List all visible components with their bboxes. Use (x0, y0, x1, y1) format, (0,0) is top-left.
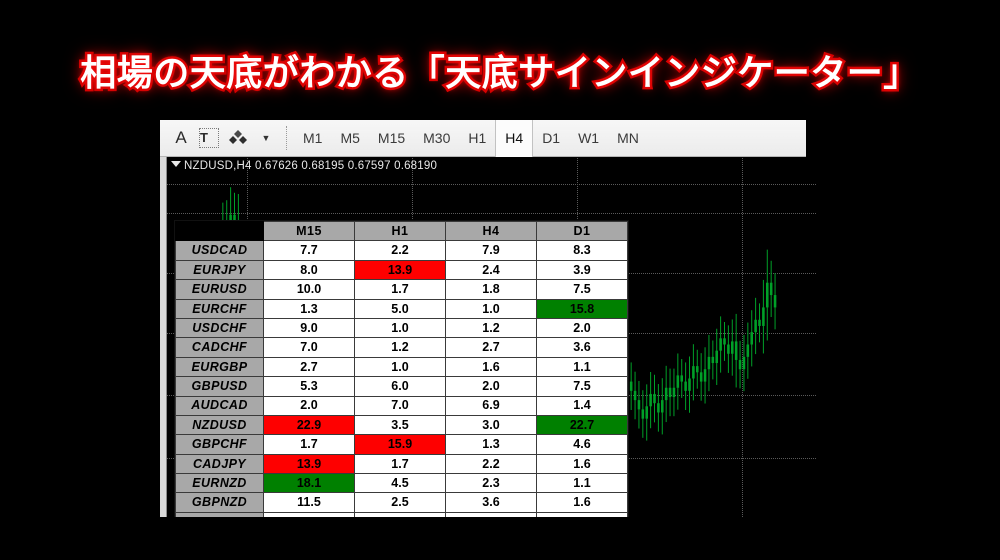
signal-cell-nzdjpy-m15: 11.9 (264, 512, 355, 517)
signal-cell-audcad-m15: 2.0 (264, 396, 355, 415)
timeframe-button-mn[interactable]: MN (608, 120, 648, 157)
table-row: EURCHF1.35.01.015.8 (176, 299, 628, 318)
signal-cell-gbpnzd-h4: 3.6 (446, 493, 537, 512)
signal-cell-nzdusd-h4: 3.0 (446, 415, 537, 434)
pair-label-usdchf: USDCHF (176, 318, 264, 337)
pair-label-gbpchf: GBPCHF (176, 435, 264, 454)
timeframe-button-w1[interactable]: W1 (569, 120, 608, 157)
table-row: CADJPY13.91.72.21.6 (176, 454, 628, 473)
signal-table: M15H1H4D1 USDCAD7.72.27.98.3EURJPY8.013.… (175, 221, 628, 517)
signal-cell-eurnzd-d1: 1.1 (537, 474, 628, 493)
column-header-h1: H1 (355, 222, 446, 241)
signal-cell-gbpchf-h4: 1.3 (446, 435, 537, 454)
timeframe-button-m1[interactable]: M1 (294, 120, 331, 157)
signal-cell-eurchf-h1: 5.0 (355, 299, 446, 318)
pair-label-nzdusd: NZDUSD (176, 415, 264, 434)
pair-label-gbpnzd: GBPNZD (176, 493, 264, 512)
signal-cell-gbpusd-h1: 6.0 (355, 377, 446, 396)
signal-cell-eurchf-m15: 1.3 (264, 299, 355, 318)
shapes-icon-glyph (229, 130, 248, 147)
signal-cell-usdchf-h4: 1.2 (446, 318, 537, 337)
signal-cell-audcad-h4: 6.9 (446, 396, 537, 415)
signal-cell-nzdusd-m15: 22.9 (264, 415, 355, 434)
signal-cell-cadchf-h4: 2.7 (446, 338, 537, 357)
signal-cell-usdcad-h4: 7.9 (446, 241, 537, 260)
signal-cell-cadchf-m15: 7.0 (264, 338, 355, 357)
table-row: GBPUSD5.36.02.07.5 (176, 377, 628, 396)
pair-label-audcad: AUDCAD (176, 396, 264, 415)
chart-toolbar: A T ▼ M1M5M15M30H1H4D1W1MN (160, 120, 806, 157)
pair-label-eurchf: EURCHF (176, 299, 264, 318)
signal-cell-eurgbp-d1: 1.1 (537, 357, 628, 376)
pair-label-eurgbp: EURGBP (176, 357, 264, 376)
price-chart[interactable]: NZDUSD,H4 0.67626 0.68195 0.67597 0.6819… (167, 158, 816, 517)
signal-cell-eurnzd-h1: 4.5 (355, 474, 446, 493)
chevron-down-icon[interactable]: ▼ (253, 125, 279, 151)
pair-label-cadjpy: CADJPY (176, 454, 264, 473)
signal-cell-cadjpy-d1: 1.6 (537, 454, 628, 473)
signal-cell-eurjpy-d1: 3.9 (537, 260, 628, 279)
toolbar-divider (286, 126, 287, 150)
timeframe-button-h4[interactable]: H4 (495, 120, 533, 157)
table-row: GBPNZD11.52.53.61.6 (176, 493, 628, 512)
table-row: NZDUSD22.93.53.022.7 (176, 415, 628, 434)
signal-cell-cadchf-d1: 3.6 (537, 338, 628, 357)
signal-cell-eurnzd-m15: 18.1 (264, 474, 355, 493)
signal-table-body: USDCAD7.72.27.98.3EURJPY8.013.92.43.9EUR… (176, 241, 628, 517)
signal-cell-usdchf-h1: 1.0 (355, 318, 446, 337)
signal-cell-nzdusd-h1: 3.5 (355, 415, 446, 434)
table-row: USDCHF9.01.01.22.0 (176, 318, 628, 337)
signal-cell-nzdjpy-h4: 1.2 (446, 512, 537, 517)
signal-cell-eurusd-h1: 1.7 (355, 280, 446, 299)
signal-cell-eurgbp-h4: 1.6 (446, 357, 537, 376)
signal-cell-eurjpy-h1: 13.9 (355, 260, 446, 279)
pair-label-eurjpy: EURJPY (176, 260, 264, 279)
signal-cell-gbpnzd-h1: 2.5 (355, 493, 446, 512)
signal-cell-gbpusd-h4: 2.0 (446, 377, 537, 396)
table-corner-cell (176, 222, 264, 241)
mt4-window: A T ▼ M1M5M15M30H1H4D1W1MN NZDUSD,H4 0.6… (160, 120, 816, 517)
column-header-m15: M15 (264, 222, 355, 241)
timeframe-button-d1[interactable]: D1 (533, 120, 569, 157)
column-header-h4: H4 (446, 222, 537, 241)
table-row: EURJPY8.013.92.43.9 (176, 260, 628, 279)
pair-label-gbpusd: GBPUSD (176, 377, 264, 396)
signal-cell-nzdusd-d1: 22.7 (537, 415, 628, 434)
signal-cell-gbpnzd-d1: 1.6 (537, 493, 628, 512)
signal-cell-gbpusd-m15: 5.3 (264, 377, 355, 396)
signal-cell-gbpnzd-m15: 11.5 (264, 493, 355, 512)
table-header-row: M15H1H4D1 (176, 222, 628, 241)
signal-cell-eurchf-h4: 1.0 (446, 299, 537, 318)
shapes-icon[interactable] (224, 125, 253, 151)
label-tool-icon: T (199, 128, 219, 148)
signal-cell-usdcad-d1: 8.3 (537, 241, 628, 260)
signal-table-panel: M15H1H4D1 USDCAD7.72.27.98.3EURJPY8.013.… (174, 220, 629, 517)
collapse-triangle-icon[interactable] (171, 161, 181, 167)
screenshot-root: 相場の天底がわかる「天底サインインジケーター」 A T ▼ M1M5M15M30… (0, 0, 1000, 560)
signal-cell-gbpchf-d1: 4.6 (537, 435, 628, 454)
signal-cell-eurjpy-h4: 2.4 (446, 260, 537, 279)
signal-cell-audcad-h1: 7.0 (355, 396, 446, 415)
signal-cell-usdcad-m15: 7.7 (264, 241, 355, 260)
signal-cell-eurgbp-m15: 2.7 (264, 357, 355, 376)
signal-cell-audcad-d1: 1.4 (537, 396, 628, 415)
signal-cell-usdcad-h1: 2.2 (355, 241, 446, 260)
signal-table-head: M15H1H4D1 (176, 222, 628, 241)
pair-label-cadchf: CADCHF (176, 338, 264, 357)
signal-cell-cadjpy-m15: 13.9 (264, 454, 355, 473)
timeframe-button-m15[interactable]: M15 (369, 120, 414, 157)
signal-cell-gbpchf-h1: 15.9 (355, 435, 446, 454)
table-row: CADCHF7.01.22.73.6 (176, 338, 628, 357)
column-header-d1: D1 (537, 222, 628, 241)
signal-cell-cadjpy-h4: 2.2 (446, 454, 537, 473)
symbol-quote-line: NZDUSD,H4 0.67626 0.68195 0.67597 0.6819… (171, 160, 437, 172)
signal-cell-eurchf-d1: 15.8 (537, 299, 628, 318)
table-row: GBPCHF1.715.91.34.6 (176, 435, 628, 454)
table-row: USDCAD7.72.27.98.3 (176, 241, 628, 260)
signal-cell-gbpchf-m15: 1.7 (264, 435, 355, 454)
label-tool-button[interactable]: T (194, 125, 224, 151)
signal-cell-eurusd-h4: 1.8 (446, 280, 537, 299)
signal-cell-eurjpy-m15: 8.0 (264, 260, 355, 279)
signal-cell-eurusd-m15: 10.0 (264, 280, 355, 299)
chart-left-gutter (160, 120, 167, 517)
signal-cell-eurgbp-h1: 1.0 (355, 357, 446, 376)
table-row: EURNZD18.14.52.31.1 (176, 474, 628, 493)
signal-cell-gbpusd-d1: 7.5 (537, 377, 628, 396)
table-row: EURUSD10.01.71.87.5 (176, 280, 628, 299)
timeframe-button-m5[interactable]: M5 (331, 120, 368, 157)
timeframe-button-group: M1M5M15M30H1H4D1W1MN (294, 120, 648, 157)
page-title: 相場の天底がわかる「天底サインインジケーター」 (0, 44, 1000, 96)
signal-cell-eurnzd-h4: 2.3 (446, 474, 537, 493)
quote-text: NZDUSD,H4 0.67626 0.68195 0.67597 0.6819… (184, 160, 437, 172)
signal-cell-cadjpy-h1: 1.7 (355, 454, 446, 473)
signal-cell-usdchf-d1: 2.0 (537, 318, 628, 337)
signal-cell-nzdjpy-h1: 5.0 (355, 512, 446, 517)
pair-label-eurnzd: EURNZD (176, 474, 264, 493)
signal-cell-usdchf-m15: 9.0 (264, 318, 355, 337)
table-row: NZDJPY11.95.01.22.0 (176, 512, 628, 517)
pair-label-usdcad: USDCAD (176, 241, 264, 260)
pair-label-nzdjpy: NZDJPY (176, 512, 264, 517)
signal-cell-cadchf-h1: 1.2 (355, 338, 446, 357)
text-tool-button[interactable]: A (168, 125, 194, 151)
pair-label-eurusd: EURUSD (176, 280, 264, 299)
table-row: EURGBP2.71.01.61.1 (176, 357, 628, 376)
signal-cell-eurusd-d1: 7.5 (537, 280, 628, 299)
table-row: AUDCAD2.07.06.91.4 (176, 396, 628, 415)
timeframe-button-m30[interactable]: M30 (414, 120, 459, 157)
timeframe-button-h1[interactable]: H1 (459, 120, 495, 157)
signal-cell-nzdjpy-d1: 2.0 (537, 512, 628, 517)
